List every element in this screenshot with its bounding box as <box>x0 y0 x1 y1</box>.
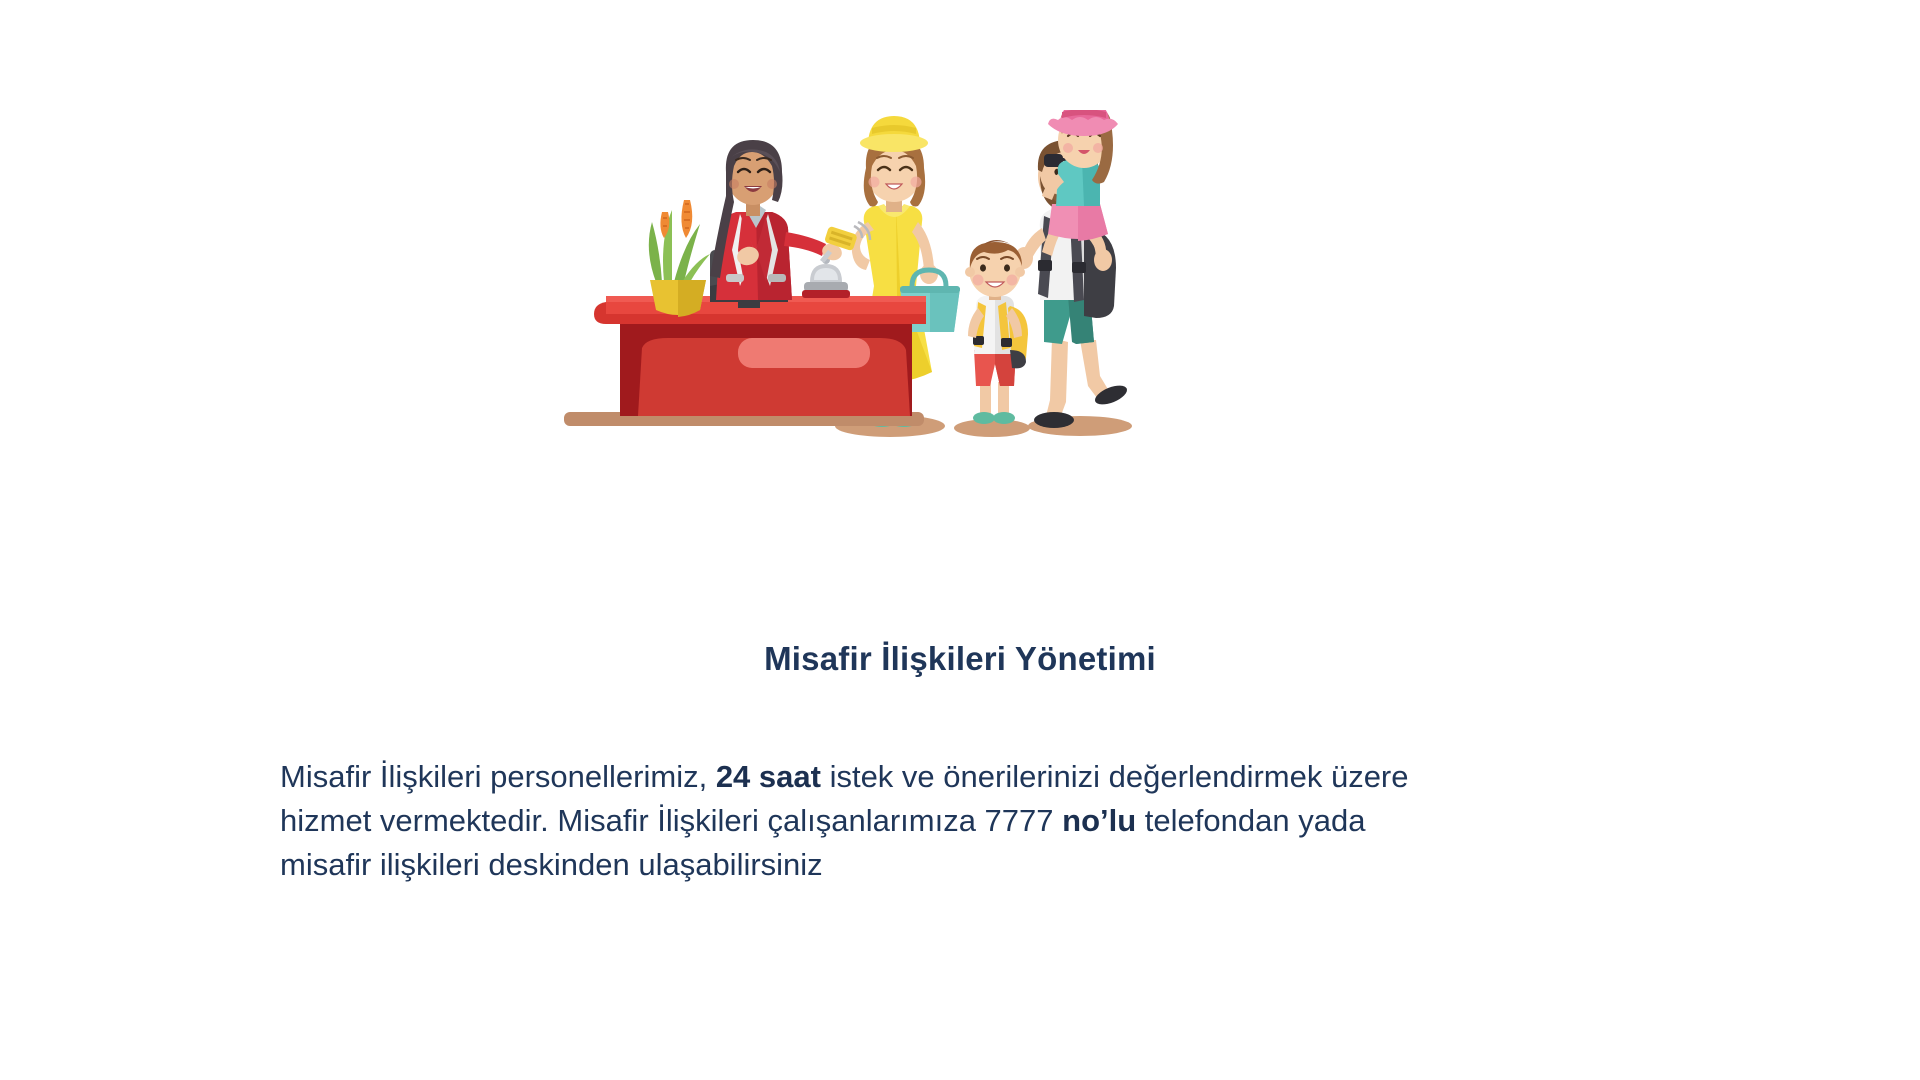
service-bell <box>802 256 850 298</box>
guest-girl <box>1042 110 1118 256</box>
sun-hat <box>860 116 928 152</box>
body-segment-bold-nolu: no’lu <box>1062 803 1136 838</box>
desk-accent <box>738 338 870 368</box>
guest-boy <box>965 240 1028 424</box>
page-title: Misafir İlişkileri Yönetimi <box>0 640 1920 678</box>
boy-shoe-right <box>993 412 1015 424</box>
slide-canvas: Misafir İlişkileri Yönetimi Misafir İliş… <box>0 0 1920 1080</box>
body-paragraph: Misafir İlişkileri personellerimiz, 24 s… <box>280 755 1410 887</box>
body-segment-bold-hours: 24 saat <box>716 759 821 794</box>
body-segment-1: Misafir İlişkileri personellerimiz, <box>280 759 716 794</box>
receptionist <box>710 140 870 300</box>
hotel-reception-illustration <box>560 110 1360 540</box>
man-shoe-back <box>1034 412 1074 428</box>
reception-desk <box>564 296 926 426</box>
boy-shoe-left <box>973 412 995 424</box>
plant-flowers <box>660 200 692 238</box>
potted-plant <box>649 200 710 317</box>
